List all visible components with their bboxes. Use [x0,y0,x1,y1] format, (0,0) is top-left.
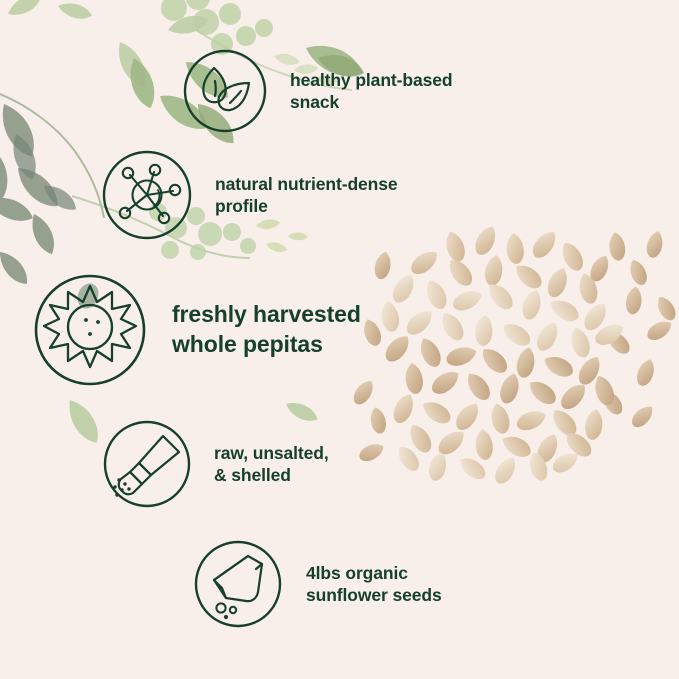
seed-leaves-icon [182,48,268,134]
sunflower-icon [32,272,148,388]
feature-label: freshly harvested whole pepitas [172,300,361,360]
feature-4lbs-organic-sunflower-seeds: 4lbs organic sunflower seeds [192,538,442,630]
feature-natural-nutrient-dense-profile: natural nutrient-dense profile [100,148,398,242]
seed-bag-icon [192,538,284,630]
feature-label: raw, unsalted, & shelled [214,442,329,487]
feature-freshly-harvested-whole-pepitas: freshly harvested whole pepitas [32,272,361,388]
infographic-canvas: healthy plant-based snack natural nutrie… [0,0,679,679]
feature-label: natural nutrient-dense profile [215,173,398,218]
molecule-icon [100,148,194,242]
feature-raw-unsalted-shelled: raw, unsalted, & shelled [101,418,329,510]
feature-healthy-plant-based-snack: healthy plant-based snack [182,48,452,134]
feature-label: healthy plant-based snack [290,69,452,114]
feature-label: 4lbs organic sunflower seeds [306,562,442,607]
salt-shaker-icon [101,418,193,510]
